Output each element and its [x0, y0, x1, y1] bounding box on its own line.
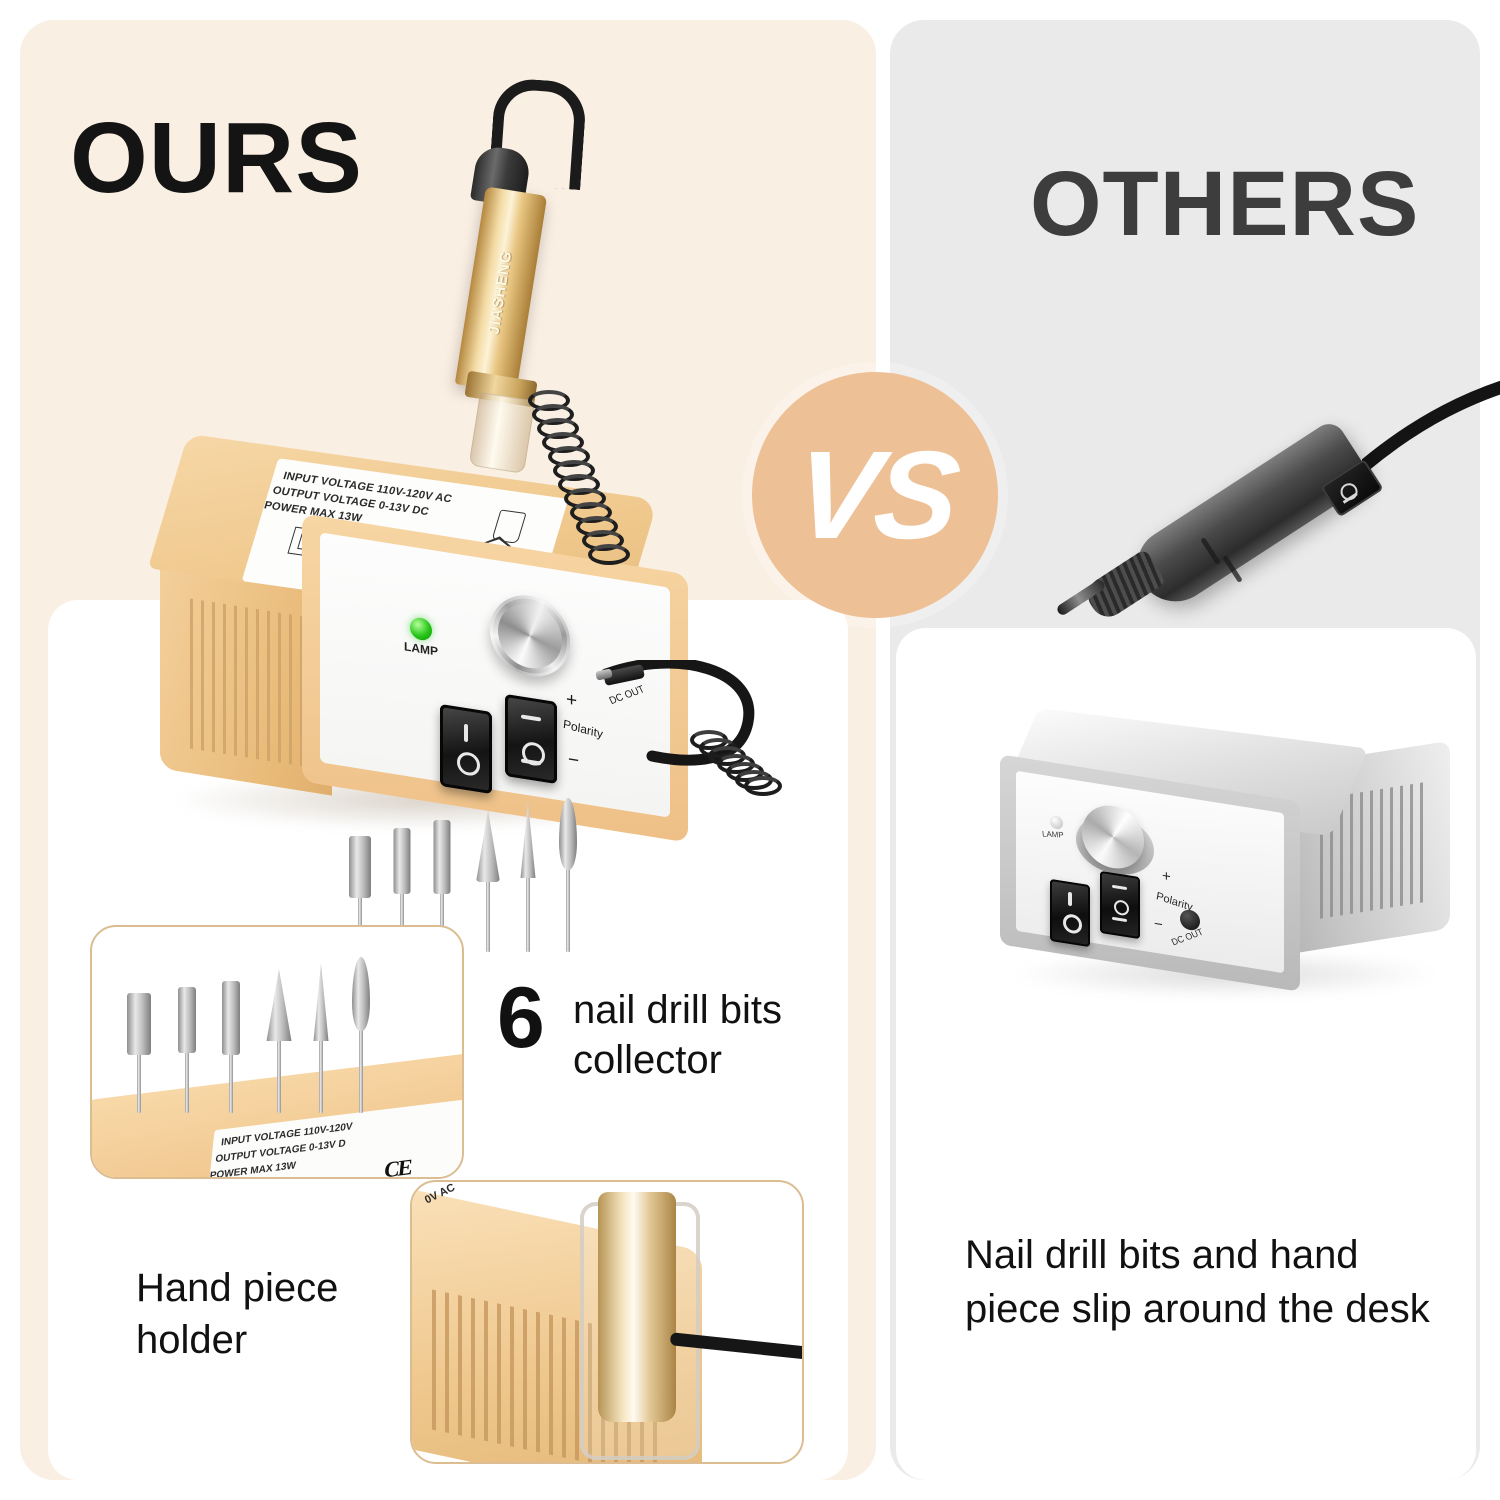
switch-on-marker [1068, 892, 1072, 907]
others-polarity-plus-label: + [1162, 867, 1171, 885]
others-lamp-label: LAMP [1042, 829, 1065, 839]
handpiece-coiled-cable [524, 390, 654, 580]
handpiece-holder-caption-line-1: Hand piece [136, 1262, 338, 1314]
others-handpiece-cord [1362, 366, 1500, 476]
handpiece-cable-coil-right [690, 726, 800, 796]
others-heading: OTHERS [1030, 158, 1419, 250]
switch-top-bar [1112, 885, 1127, 890]
handpiece-holder-caption: Hand piece holder [136, 1262, 338, 1366]
vs-badge: VS [752, 372, 998, 618]
others-handpiece [1090, 330, 1490, 690]
device-vent-slots [190, 598, 310, 767]
drill-bit-barrel [134, 989, 144, 1113]
others-caption: Nail drill bits and hand piece slip arou… [965, 1228, 1455, 1336]
bit-count-caption-line-1: nail drill bits [573, 985, 782, 1035]
closeup-drill-bit-set [134, 963, 374, 1113]
closeup-ce-mark-icon: CE [383, 1154, 412, 1179]
others-polarity-minus-label: − [1154, 915, 1163, 933]
comparison-infographic: OURS INPUT VOLTAGE 110V-120V AC OUTPUT V… [0, 0, 1500, 1500]
switch-circle-marker [1114, 899, 1129, 916]
others-handpiece-body [1124, 418, 1374, 616]
bit-count-number: 6 [497, 978, 545, 1060]
drill-bit-needle [316, 965, 326, 1113]
ours-heading: OURS [70, 108, 363, 208]
bit-count-caption: nail drill bits collector [573, 985, 782, 1085]
drill-bit-needle [523, 806, 533, 952]
others-power-switch[interactable] [1050, 879, 1090, 947]
drill-bit-cylinder-long [226, 977, 236, 1113]
ours-handpiece: JIASHENG [452, 60, 592, 540]
switch-bottom-bar [1112, 917, 1127, 922]
power-switch[interactable] [440, 704, 492, 794]
handpiece-holder-closeup-card: 0V AC [410, 1180, 804, 1464]
vs-label: VS [788, 424, 962, 567]
switch-off-marker [1063, 913, 1082, 935]
others-caption-line-1: Nail drill bits and hand [965, 1228, 1455, 1282]
polarity-plus-label: + [566, 689, 577, 713]
others-drill-machine: LAMP + Polarity − DC OUT [990, 720, 1470, 1020]
switch-off-marker [457, 751, 480, 778]
handpiece-holder-caption-line-2: holder [136, 1314, 338, 1366]
others-polarity-switch[interactable] [1100, 871, 1140, 939]
switch-on-marker [464, 724, 468, 743]
polarity-switch[interactable] [505, 694, 557, 784]
others-caption-line-2: piece slip around the desk [965, 1282, 1455, 1336]
polarity-minus-label: − [568, 749, 579, 773]
brand-text: JIASHENG [485, 249, 515, 335]
closeup-handpiece-ring [598, 1378, 676, 1388]
drill-bits-closeup-card: INPUT VOLTAGE 110V-120V OUTPUT VOLTAGE 0… [90, 925, 464, 1179]
drill-bit-flame [563, 800, 573, 952]
switch-top-bar [521, 714, 541, 721]
drill-bit-cone [274, 971, 284, 1113]
drill-bit-flame [356, 959, 366, 1113]
bit-count-caption-line-2: collector [573, 1035, 782, 1085]
drill-bit-cone [483, 812, 493, 952]
drill-bit-cylinder [182, 983, 192, 1113]
